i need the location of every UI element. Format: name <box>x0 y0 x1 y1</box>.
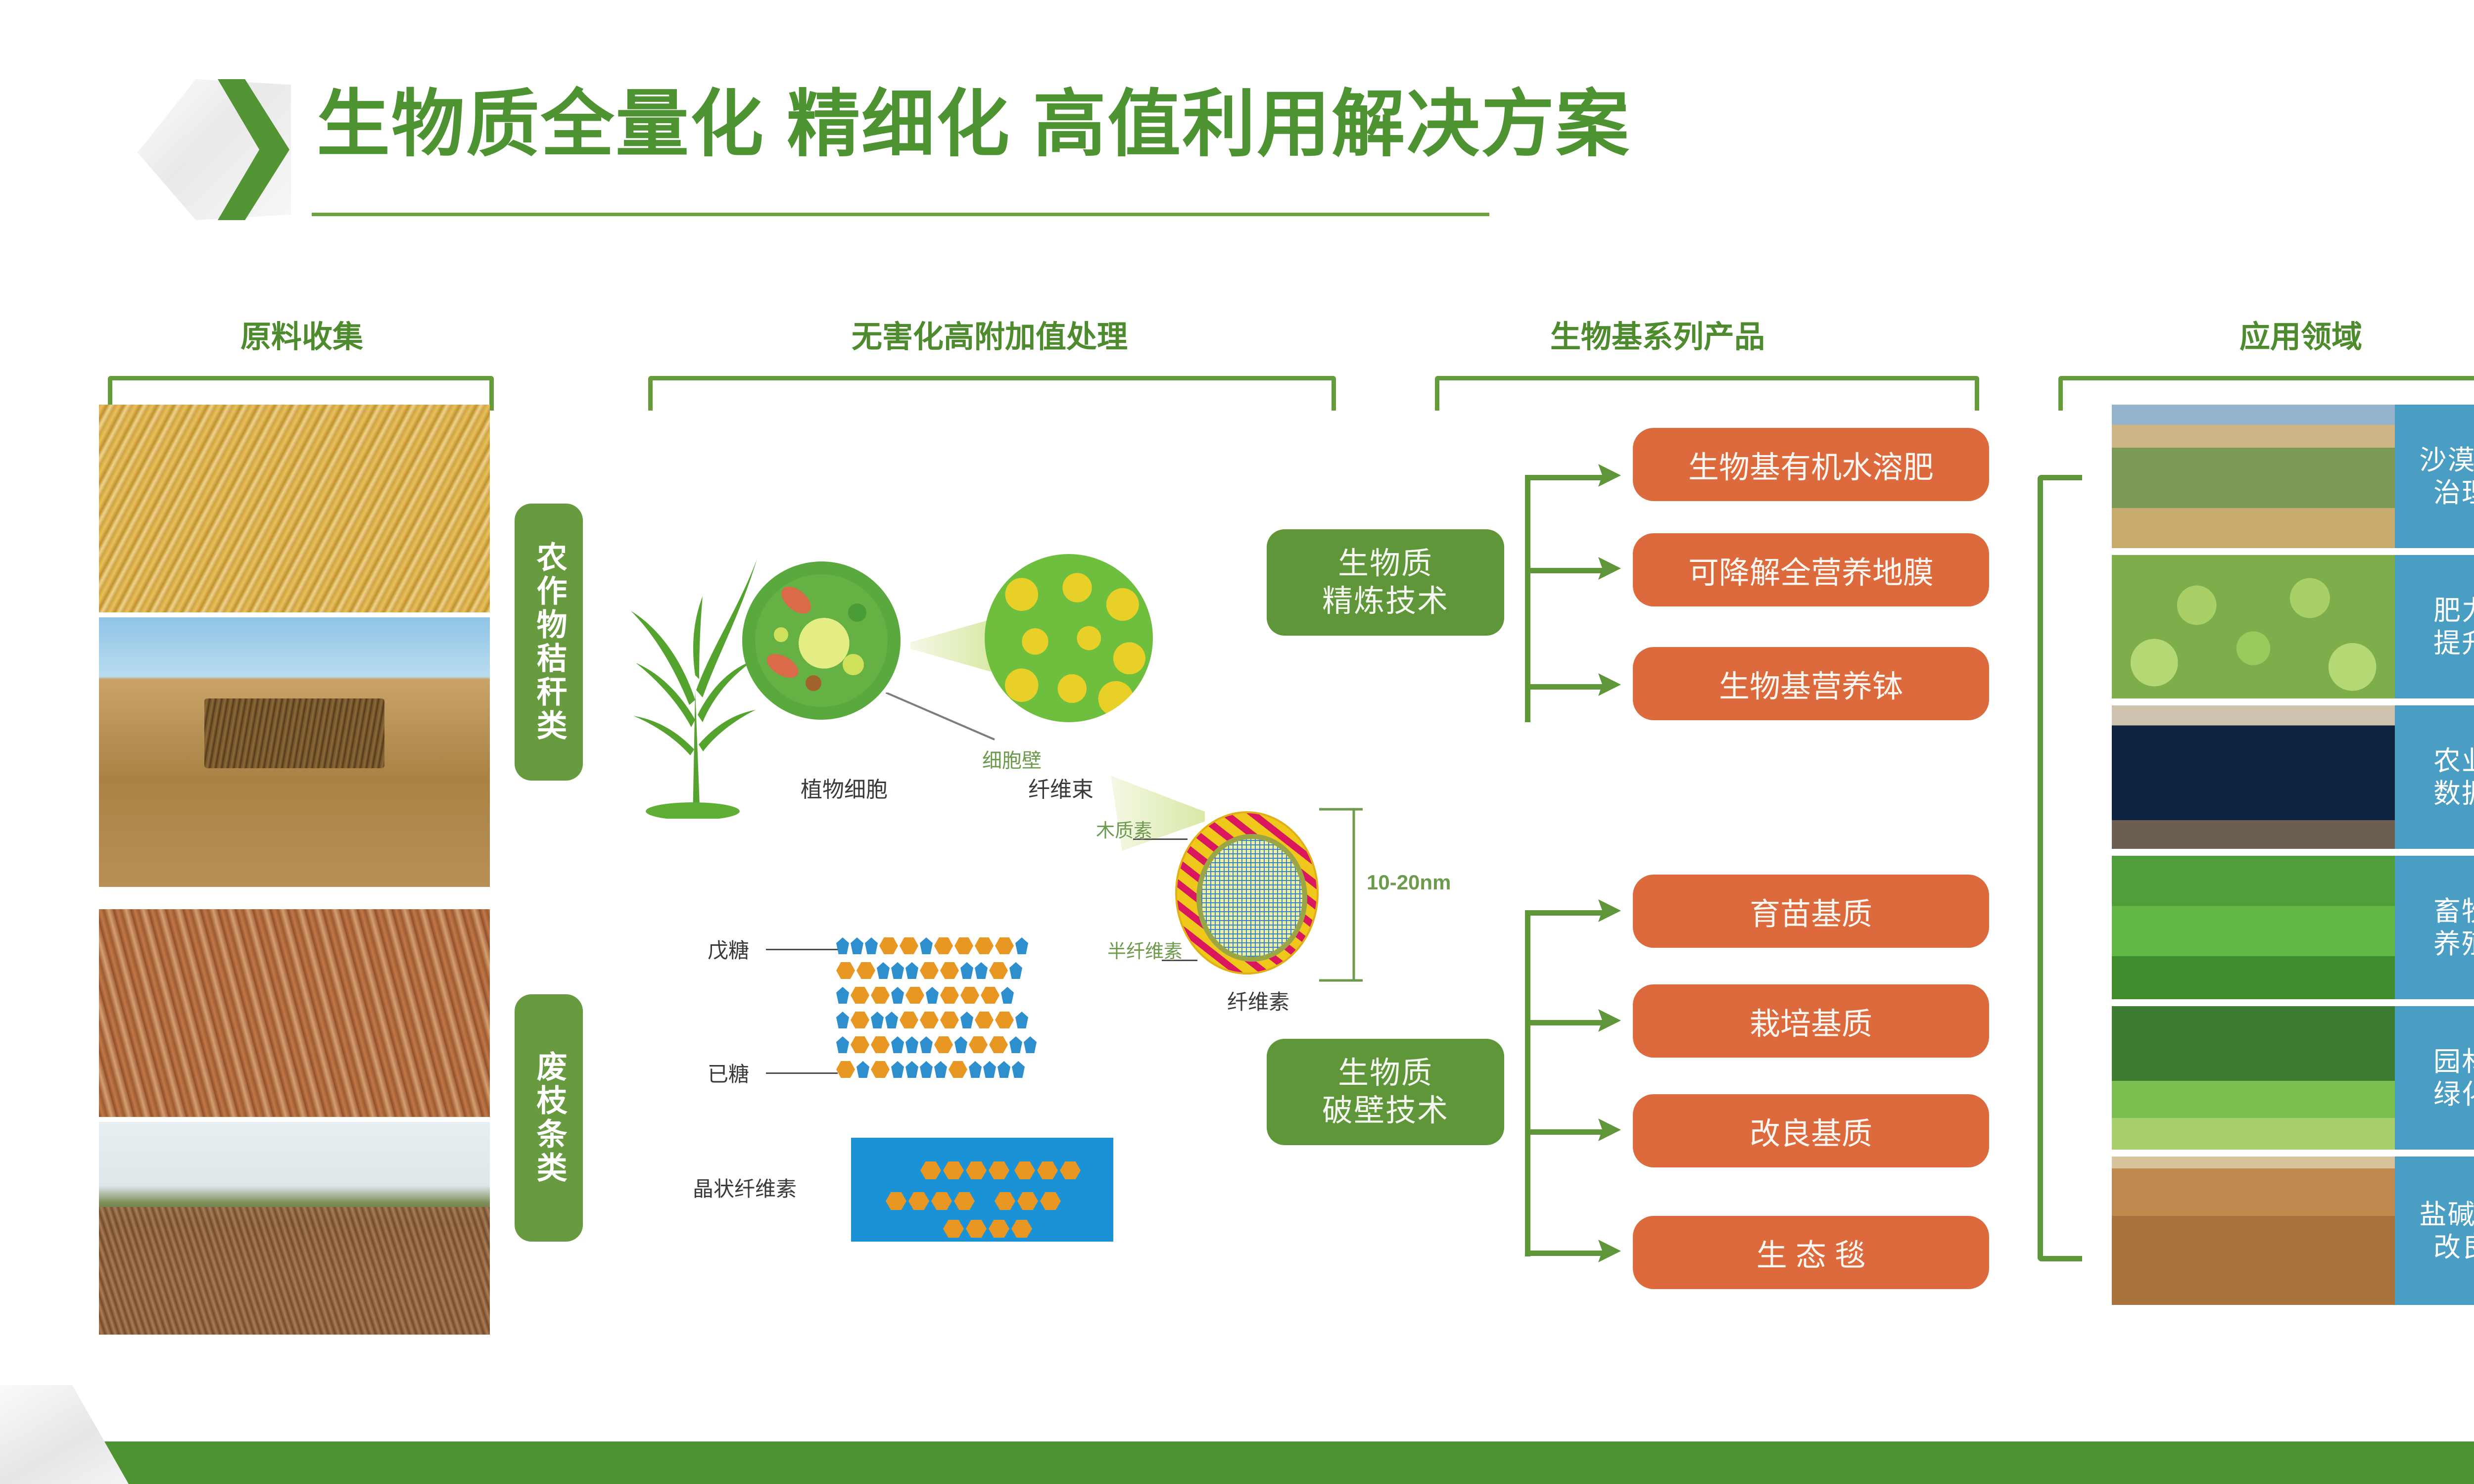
sugar-chain-diagram <box>836 937 1123 1091</box>
product-box-ecological-blanket[interactable]: 生 态 毯 <box>1633 1216 1989 1289</box>
connector-wallbreaking-branch-2 <box>1525 1020 1604 1025</box>
connector-refining-branch-3 <box>1525 684 1604 690</box>
application-row-greening[interactable]: 园林 绿化 <box>2112 1006 2474 1150</box>
application-greening-line1: 园林 <box>2433 1045 2474 1078</box>
application-greening-line2: 绿化 <box>2433 1078 2474 1111</box>
application-tag-fertility[interactable]: 肥力 提升 <box>2395 555 2474 698</box>
connector-refining-branch-1 <box>1525 475 1604 480</box>
application-tag-desert[interactable]: 沙漠化 治理 <box>2395 405 2474 548</box>
bracket-processing <box>648 376 1336 411</box>
label-fiber-scale: 10-20nm <box>1367 871 1451 894</box>
application-photo-desert <box>2112 405 2395 548</box>
application-saline-line1: 盐碱地 <box>2419 1198 2474 1231</box>
label-crystalline-cellulose: 晶状纤维素 <box>693 1172 797 1203</box>
application-desert-line2: 治理 <box>2433 476 2474 509</box>
product-box-water-soluble-fertilizer[interactable]: 生物基有机水溶肥 <box>1633 428 1989 501</box>
application-photo-agridata <box>2112 705 2395 849</box>
connector-refining-branch-2 <box>1525 568 1604 573</box>
page-title: 生物质全量化 精细化 高值利用解决方案 <box>317 88 1630 161</box>
tech-refining-line2: 精炼技术 <box>1322 584 1449 618</box>
application-desert-line1: 沙漠化 <box>2419 444 2474 476</box>
application-row-agridata[interactable]: 农业 数据 <box>2112 705 2474 849</box>
feedstock-photo-orchard <box>99 1122 490 1335</box>
title-underline-divider <box>312 213 1489 216</box>
label-fiber-bundle: 纤维束 <box>1028 772 1094 803</box>
label-hexose: 已糖 <box>708 1058 749 1088</box>
label-cell-wall: 细胞壁 <box>982 744 1042 773</box>
column-header-products: 生物基系列产品 <box>1410 312 1905 356</box>
product-box-improvement-substrate[interactable]: 改良基质 <box>1633 1094 1989 1167</box>
footer-bar <box>0 1441 2474 1484</box>
connector-wallbreaking-branch-3 <box>1525 1129 1604 1135</box>
label-lignin: 木质素 <box>1096 815 1152 842</box>
connector-wallbreaking-branch-1 <box>1525 910 1604 916</box>
tech-box-refining[interactable]: 生物质精炼技术 <box>1267 529 1504 636</box>
application-photo-fertility <box>2112 555 2395 698</box>
application-row-livestock[interactable]: 畜牧 养殖 <box>2112 856 2474 999</box>
scale-caliper-icon <box>1319 806 1374 984</box>
pentose-leader-line <box>766 949 838 950</box>
product-box-seedling-substrate[interactable]: 育苗基质 <box>1633 875 1989 948</box>
bracket-applications-left <box>2038 475 2082 1261</box>
application-row-desert[interactable]: 沙漠化 治理 <box>2112 405 2474 548</box>
application-livestock-line1: 畜牧 <box>2433 895 2474 927</box>
application-fertility-line2: 提升 <box>2433 627 2474 659</box>
crystalline-cellulose-diagram <box>851 1138 1113 1242</box>
application-photo-saline <box>2112 1157 2395 1305</box>
feedstock-tag-crop-straw[interactable]: 农作物秸秆类 <box>515 504 583 781</box>
application-tag-livestock[interactable]: 畜牧 养殖 <box>2395 856 2474 999</box>
product-box-cultivation-substrate[interactable]: 栽培基质 <box>1633 984 1989 1058</box>
application-livestock-line2: 养殖 <box>2433 927 2474 960</box>
column-header-applications: 应用领域 <box>2128 312 2474 356</box>
application-photo-greening <box>2112 1006 2395 1150</box>
label-pentose: 戊糖 <box>708 934 749 964</box>
tech-wallbreaking-line1: 生物质 <box>1338 1056 1433 1090</box>
plant-illustration-icon <box>621 542 764 819</box>
product-box-biodegradable-mulch-film[interactable]: 可降解全营养地膜 <box>1633 533 1989 606</box>
feedstock-photo-straw-bale <box>99 617 490 887</box>
bracket-products <box>1435 376 1979 411</box>
application-tag-greening[interactable]: 园林 绿化 <box>2395 1006 2474 1150</box>
label-cellulose: 纤维素 <box>1227 985 1289 1016</box>
plant-cell-diagram <box>742 561 901 720</box>
cellulose-cross-section-diagram <box>1175 811 1319 974</box>
application-agridata-line1: 农业 <box>2433 744 2474 777</box>
column-header-processing: 无害化高附加值处理 <box>693 312 1286 356</box>
tech-wallbreaking-line2: 破壁技术 <box>1322 1094 1449 1128</box>
connector-wallbreaking-branch-4 <box>1525 1251 1604 1256</box>
application-fertility-line1: 肥力 <box>2433 594 2474 627</box>
application-agridata-line2: 数据 <box>2433 777 2474 810</box>
page-header: 生物质全量化 精细化 高值利用解决方案 <box>0 0 2474 237</box>
footer-decoration-shape <box>0 1385 129 1484</box>
tech-refining-line1: 生物质 <box>1338 547 1433 581</box>
application-tag-saline[interactable]: 盐碱地 改良 <box>2395 1157 2474 1305</box>
application-photo-livestock <box>2112 856 2395 999</box>
feedstock-photo-branches <box>99 909 490 1117</box>
tech-box-wallbreaking[interactable]: 生物质破壁技术 <box>1267 1039 1504 1145</box>
application-row-saline[interactable]: 盐碱地 改良 <box>2112 1157 2474 1305</box>
hexose-leader-line <box>766 1072 838 1074</box>
application-tag-agridata[interactable]: 农业 数据 <box>2395 705 2474 849</box>
product-box-nutrient-pot[interactable]: 生物基营养钵 <box>1633 647 1989 720</box>
column-header-feedstock: 原料收集 <box>163 312 440 356</box>
cellwall-leader-line <box>886 693 1024 752</box>
label-plant-cell: 植物细胞 <box>801 772 888 803</box>
zoom-beam-2 <box>910 618 995 673</box>
feedstock-tag-waste-branch[interactable]: 废枝条类 <box>515 994 583 1242</box>
feedstock-photo-corn-straw <box>99 405 490 612</box>
application-saline-line2: 改良 <box>2433 1231 2474 1263</box>
application-row-fertility[interactable]: 肥力 提升 <box>2112 555 2474 698</box>
connector-wallbreaking-trunk <box>1525 910 1530 1256</box>
